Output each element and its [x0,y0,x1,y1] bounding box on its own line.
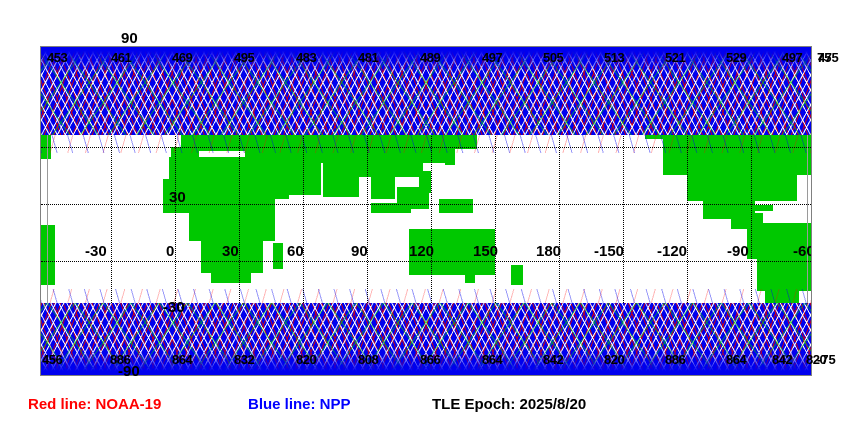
edge-number-label: 497 [482,50,502,65]
coordinate-label: 30 [222,243,239,260]
land-madagascar [273,243,283,269]
edge-number-label: 475 [818,50,838,65]
land-indochina [371,173,395,199]
coordinate-label: 120 [409,243,434,260]
land-arabia [277,159,321,195]
edge-number-label: 521 [665,50,685,65]
coordinate-label: 150 [473,243,498,260]
edge-number-label: 820 [296,352,316,367]
edge-number-label: 481 [358,50,378,65]
axis-label-bottom-right: -75 [817,352,836,367]
ground-track-figure: 90 75 [0,0,850,425]
edge-number-label: 866 [420,352,440,367]
coordinate-label: -30 [163,299,185,316]
edge-number-label: 453 [47,50,67,65]
coordinate-label: 60 [287,243,304,260]
coordinate-label: -60 [793,243,812,260]
coordinate-label: -120 [657,243,687,260]
track-overlay-south-mid [41,289,811,303]
coordinate-label: -90 [727,243,749,260]
land-brazil-wrap [41,225,55,285]
land-borneo [397,187,419,205]
edge-number-label: 864 [482,352,502,367]
edge-number-label: 842 [543,352,563,367]
grid-parallel-0 [41,204,811,205]
edge-number-label: 808 [358,352,378,367]
track-overlay-north-mid [41,135,811,153]
land-new-zealand [511,265,523,285]
edge-number-label: 820 [604,352,624,367]
edge-number-label: 513 [604,50,624,65]
grid-parallel-30 [41,147,811,148]
edge-number-label: 497 [782,50,802,65]
coordinate-label: 180 [536,243,561,260]
land-philippines [419,171,431,193]
land-cuba [753,205,773,211]
top-edge-label-row: 4534614694954834814894975055135215294974… [0,50,850,70]
coordinate-label: 90 [351,243,368,260]
map-plot-area: 30-300306090120150180-150-120-90-60-30 [40,46,812,376]
coordinate-label: -150 [594,243,624,260]
coordinate-label: -30 [85,243,107,260]
coordinate-label: 0 [166,243,174,260]
land-tasmania [465,275,475,283]
legend-npp: Blue line: NPP [248,396,351,413]
edge-number-label: 469 [172,50,192,65]
edge-number-label: 483 [296,50,316,65]
edge-number-label: 489 [420,50,440,65]
coordinate-label: 30 [169,189,186,206]
grid-parallel--30 [41,261,811,262]
edge-number-label: 832 [234,352,254,367]
edge-number-label: 495 [234,50,254,65]
edge-number-label: 842 [772,352,792,367]
axis-label-bottom-lat: -90 [118,363,140,380]
land-india [323,159,359,197]
edge-number-label: 864 [726,352,746,367]
land-new-guinea [439,199,473,213]
edge-number-label: 886 [665,352,685,367]
axis-label-top-lat: 90 [121,30,138,47]
legend-bar: Red line: NOAA-19 Blue line: NPP TLE Epo… [0,396,850,422]
legend-noaa19: Red line: NOAA-19 [28,396,161,413]
land-south-africa-tip [211,267,251,283]
edge-number-label: 461 [111,50,131,65]
edge-number-label: 529 [726,50,746,65]
edge-number-label: 456 [42,352,62,367]
edge-number-label: 505 [543,50,563,65]
legend-tle-epoch: TLE Epoch: 2025/8/20 [432,396,586,413]
edge-number-label: 864 [172,352,192,367]
